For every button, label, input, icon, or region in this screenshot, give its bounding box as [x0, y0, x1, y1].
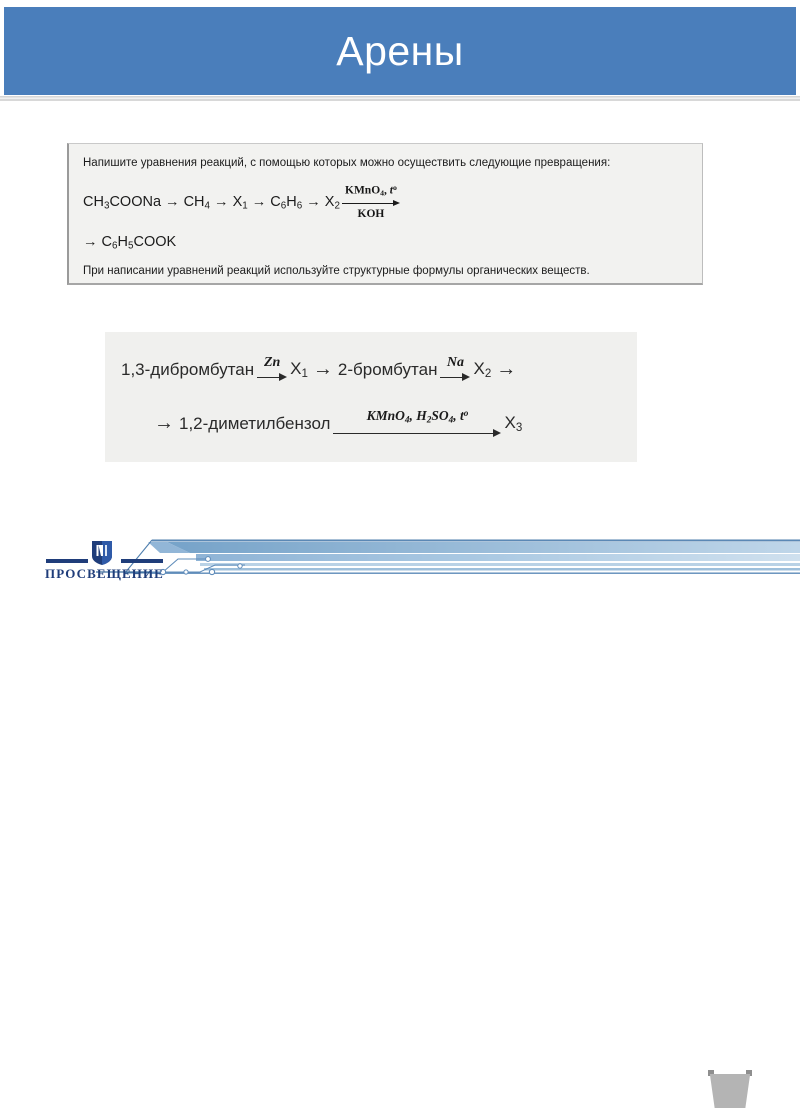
- compound-dimethylbenzene: 1,2-диметилбензол: [179, 414, 330, 434]
- formula-ch4: CH4: [184, 194, 210, 211]
- task-box-1: Напишите уравнения реакций, с помощью ко…: [67, 143, 703, 285]
- publisher-name: ПРОСВЕЩЕНИЕ: [42, 566, 167, 582]
- page-title: Арены: [336, 31, 464, 72]
- arrow-plain-2: →: [496, 358, 516, 381]
- reagent-kmno4-h2so4-label: KMnO4, H2SO4, to: [367, 409, 469, 425]
- ribbon-band-gap-1: [196, 561, 800, 563]
- task-1-instruction-bottom: При написании уравнений реакций использу…: [83, 265, 688, 277]
- task-1-equation-line-2: → C6H5COOK: [83, 234, 688, 251]
- task-2-equation-line-1: 1,3-дибромбутан Zn X1 → 2-бромбутан Na X…: [121, 356, 627, 383]
- formula-c6h5cook: C6H5COOK: [102, 234, 177, 251]
- task-2-equation-line-2: → 1,2-диметилбензол KMnO4, H2SO4, to X3: [149, 409, 627, 439]
- reaction-arrow-icon: [342, 198, 400, 208]
- arrow-5: →: [83, 234, 102, 250]
- ribbon-band-3: [204, 568, 800, 571]
- reaction-arrow-icon-zn: [257, 371, 287, 383]
- formula-x1: X1: [233, 194, 248, 211]
- circuit-node-4: [209, 569, 214, 574]
- circuit-node-5: [238, 564, 242, 568]
- ribbon-band-1: [196, 554, 800, 561]
- arrow-3: →: [248, 194, 271, 210]
- reagent-arrow-kmno4-h2so4: KMnO4, H2SO4, to: [333, 409, 501, 439]
- reaction-arrow-icon-na: [440, 371, 470, 383]
- formula-x2: X2: [325, 194, 340, 211]
- arrow-1: →: [161, 194, 184, 210]
- publisher-logo: ПРОСВЕЩЕНИЕ: [42, 540, 167, 586]
- formula-x1-box2: X1: [290, 359, 308, 380]
- reagent-arrow-na: Na: [440, 356, 470, 383]
- task-1-equation-line-1: CH3COONa → CH4 → X1 → C6H6 → X2 KMnO4, t…: [83, 184, 688, 221]
- reagent-arrow-zn: Zn: [257, 356, 287, 383]
- compound-dibromobutane: 1,3-дибромбутан: [121, 360, 254, 380]
- reagent-zn-label: Zn: [264, 356, 280, 370]
- reagent-above-label: KMnO4, to: [345, 184, 397, 198]
- arrow-plain-1: →: [313, 358, 333, 381]
- task-1-instruction-top: Напишите уравнения реакций, с помощью ко…: [83, 157, 688, 169]
- circuit-node-2: [206, 557, 211, 562]
- formula-ch3coona: CH3COONa: [83, 194, 161, 211]
- logo-rule-right: [121, 559, 163, 563]
- arrow-plain-3: →: [154, 412, 174, 435]
- ribbon-band-gap-2: [200, 566, 800, 568]
- formula-x3: X3: [504, 413, 522, 434]
- arrow-2: →: [210, 194, 233, 210]
- reagent-below-label: KOH: [358, 208, 385, 221]
- circuit-node-3: [184, 570, 188, 574]
- formula-x2-box2: X2: [473, 359, 491, 380]
- ribbon-upper-band: [167, 542, 800, 553]
- reaction-arrow-icon-long: [333, 427, 501, 439]
- reagent-arrow-kmno4-koh: KMnO4, to KOH: [342, 184, 400, 221]
- task-box-2: 1,3-дибромбутан Zn X1 → 2-бромбутан Na X…: [105, 332, 637, 462]
- logo-rule-left: [46, 559, 88, 563]
- ribbon-top-rule: [152, 540, 800, 542]
- formula-c6h6: C6H6: [270, 194, 302, 211]
- logo-rule: [42, 559, 167, 563]
- ribbon-band-4: [150, 573, 800, 574]
- banner-shadow-divider-2: [0, 99, 800, 101]
- slide-title-banner: Арены: [4, 7, 796, 95]
- footer-gray-trapezoid: [706, 1074, 754, 1108]
- ribbon-band-2: [200, 563, 800, 566]
- arrow-4: →: [302, 194, 325, 210]
- compound-bromobutane: 2-бромбутан: [338, 360, 438, 380]
- reagent-na-label: Na: [447, 356, 464, 370]
